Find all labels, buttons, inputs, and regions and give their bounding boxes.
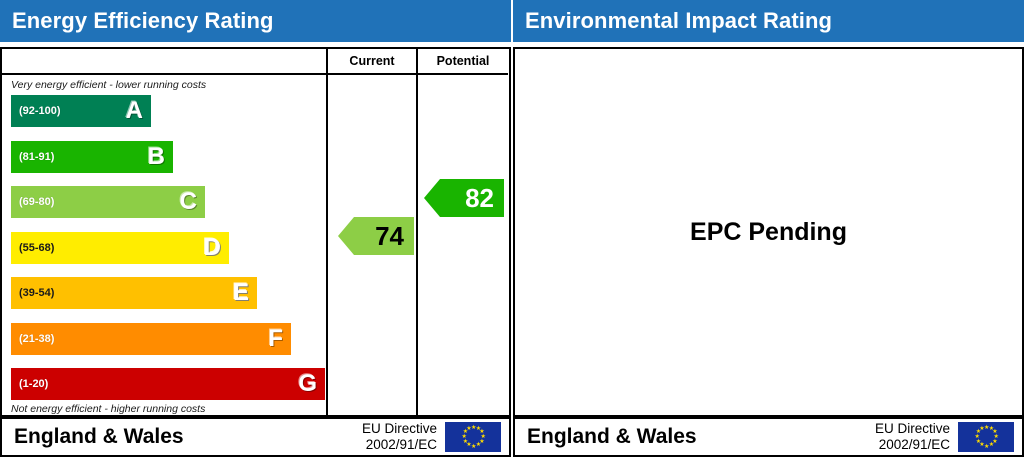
band-letter-b: B <box>148 143 165 171</box>
eu-star-icon: ★ <box>979 427 983 431</box>
band-row-c: (69-80) C <box>11 186 205 218</box>
band-list: (92-100) A (81-91) B (69-80) C (55-68) D <box>2 94 326 401</box>
environmental-chart-body: EPC Pending <box>513 47 1024 417</box>
band-letter-e: E <box>233 279 249 307</box>
environmental-impact-header: Environmental Impact Rating <box>513 0 1024 42</box>
potential-column: Potential 82 <box>418 49 508 415</box>
eu-flag-icon-right: ★★★★★★★★★★★★ <box>958 422 1014 452</box>
eu-star-icon: ★ <box>466 427 470 431</box>
energy-efficiency-panel: Energy Efficiency Rating Very energy eff… <box>0 0 511 457</box>
left-footer-region: England & Wales <box>2 425 362 449</box>
band-letter-c: C <box>180 188 197 216</box>
band-range-d: (55-68) <box>11 242 54 254</box>
top-caption: Very energy efficient - lower running co… <box>2 75 326 94</box>
left-footer: England & Wales EU Directive 2002/91/EC … <box>0 417 511 457</box>
eu-star-icon: ★ <box>462 435 466 439</box>
bands-column: Very energy efficient - lower running co… <box>2 49 328 415</box>
band-row-d: (55-68) D <box>11 232 229 264</box>
band-letter-g: G <box>298 370 317 398</box>
potential-column-header: Potential <box>418 49 508 75</box>
current-column: Current 74 <box>328 49 418 415</box>
band-range-b: (81-91) <box>11 151 54 163</box>
potential-rating-value: 82 <box>465 183 494 214</box>
environmental-impact-panel: Environmental Impact Rating EPC Pending … <box>513 0 1024 457</box>
right-footer-region: England & Wales <box>515 425 875 449</box>
band-letter-f: F <box>268 325 283 353</box>
eu-star-icon: ★ <box>463 440 467 444</box>
right-footer-directive: EU Directive 2002/91/EC <box>875 421 958 453</box>
bottom-caption: Not energy efficient - higher running co… <box>2 401 326 415</box>
eu-star-icon: ★ <box>975 435 979 439</box>
potential-rating-marker: 82 <box>424 179 504 217</box>
potential-marker-area: 82 <box>418 75 508 415</box>
right-directive-line2: 2002/91/EC <box>875 437 950 453</box>
band-range-e: (39-54) <box>11 287 54 299</box>
band-row-b: (81-91) B <box>11 141 173 173</box>
band-letter-d: D <box>204 234 221 262</box>
energy-efficiency-header: Energy Efficiency Rating <box>0 0 511 42</box>
band-row-g: (1-20) G <box>11 368 325 400</box>
band-range-c: (69-80) <box>11 196 54 208</box>
left-footer-directive: EU Directive 2002/91/EC <box>362 421 445 453</box>
current-marker-area: 74 <box>328 75 416 415</box>
eu-flag-icon: ★★★★★★★★★★★★ <box>445 422 501 452</box>
left-directive-line2: 2002/91/EC <box>362 437 437 453</box>
right-directive-line1: EU Directive <box>875 421 950 437</box>
left-directive-line1: EU Directive <box>362 421 437 437</box>
eu-star-icon: ★ <box>976 440 980 444</box>
current-rating-value: 74 <box>375 221 404 252</box>
energy-chart-body: Very energy efficient - lower running co… <box>0 47 511 417</box>
band-range-a: (92-100) <box>11 105 61 117</box>
epc-pending-status: EPC Pending <box>690 218 847 247</box>
eu-star-icon: ★ <box>989 443 993 447</box>
current-column-header: Current <box>328 49 416 75</box>
current-rating-marker: 74 <box>338 217 414 255</box>
band-range-g: (1-20) <box>11 378 48 390</box>
band-letter-a: A <box>126 97 143 125</box>
bands-column-header-blank <box>2 49 326 75</box>
band-row-a: (92-100) A <box>11 95 151 127</box>
band-row-f: (21-38) F <box>11 323 291 355</box>
band-row-e: (39-54) E <box>11 277 257 309</box>
energy-efficiency-title: Energy Efficiency Rating <box>12 8 274 34</box>
environmental-impact-title: Environmental Impact Rating <box>525 8 832 34</box>
eu-star-icon: ★ <box>476 443 480 447</box>
band-range-f: (21-38) <box>11 333 54 345</box>
right-footer: England & Wales EU Directive 2002/91/EC … <box>513 417 1024 457</box>
epc-graphic: Energy Efficiency Rating Very energy eff… <box>0 0 1024 457</box>
